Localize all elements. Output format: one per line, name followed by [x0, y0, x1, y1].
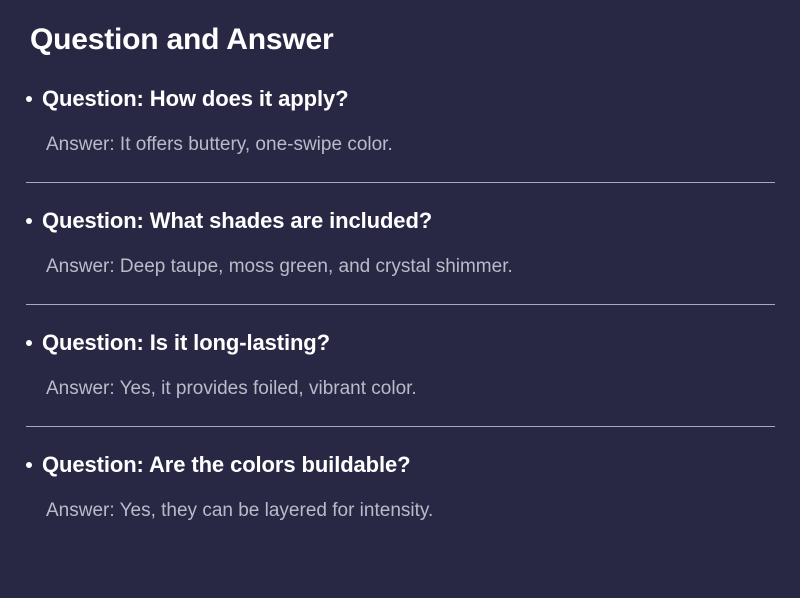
- qa-item: Question: Is it long-lasting? Answer: Ye…: [0, 330, 800, 427]
- bullet-icon: [26, 218, 32, 224]
- qa-divider: [26, 426, 775, 427]
- qa-question: Question: Are the colors buildable?: [42, 452, 411, 477]
- qa-question: Question: Is it long-lasting?: [42, 330, 330, 355]
- qa-question-row: Question: Are the colors buildable?: [0, 452, 800, 478]
- qa-question-row: Question: Is it long-lasting?: [0, 330, 800, 356]
- qa-item: Question: How does it apply? Answer: It …: [0, 86, 800, 183]
- qa-question: Question: How does it apply?: [42, 86, 348, 111]
- qa-item: Question: What shades are included? Answ…: [0, 208, 800, 305]
- bullet-icon: [26, 462, 32, 468]
- bullet-icon: [26, 96, 32, 102]
- bullet-icon: [26, 340, 32, 346]
- qa-panel: Question and Answer Question: How does i…: [0, 0, 800, 598]
- qa-divider: [26, 304, 775, 305]
- qa-answer: Answer: Yes, it provides foiled, vibrant…: [0, 377, 800, 401]
- qa-answer: Answer: Deep taupe, moss green, and crys…: [0, 255, 800, 279]
- qa-divider: [26, 182, 775, 183]
- qa-list: Question: How does it apply? Answer: It …: [0, 86, 800, 523]
- qa-question-row: Question: How does it apply?: [0, 86, 800, 112]
- qa-answer: Answer: It offers buttery, one-swipe col…: [0, 133, 800, 157]
- qa-question-row: Question: What shades are included?: [0, 208, 800, 234]
- qa-answer: Answer: Yes, they can be layered for int…: [0, 499, 800, 523]
- qa-question: Question: What shades are included?: [42, 208, 432, 233]
- qa-item: Question: Are the colors buildable? Answ…: [0, 452, 800, 523]
- page-title: Question and Answer: [30, 22, 333, 58]
